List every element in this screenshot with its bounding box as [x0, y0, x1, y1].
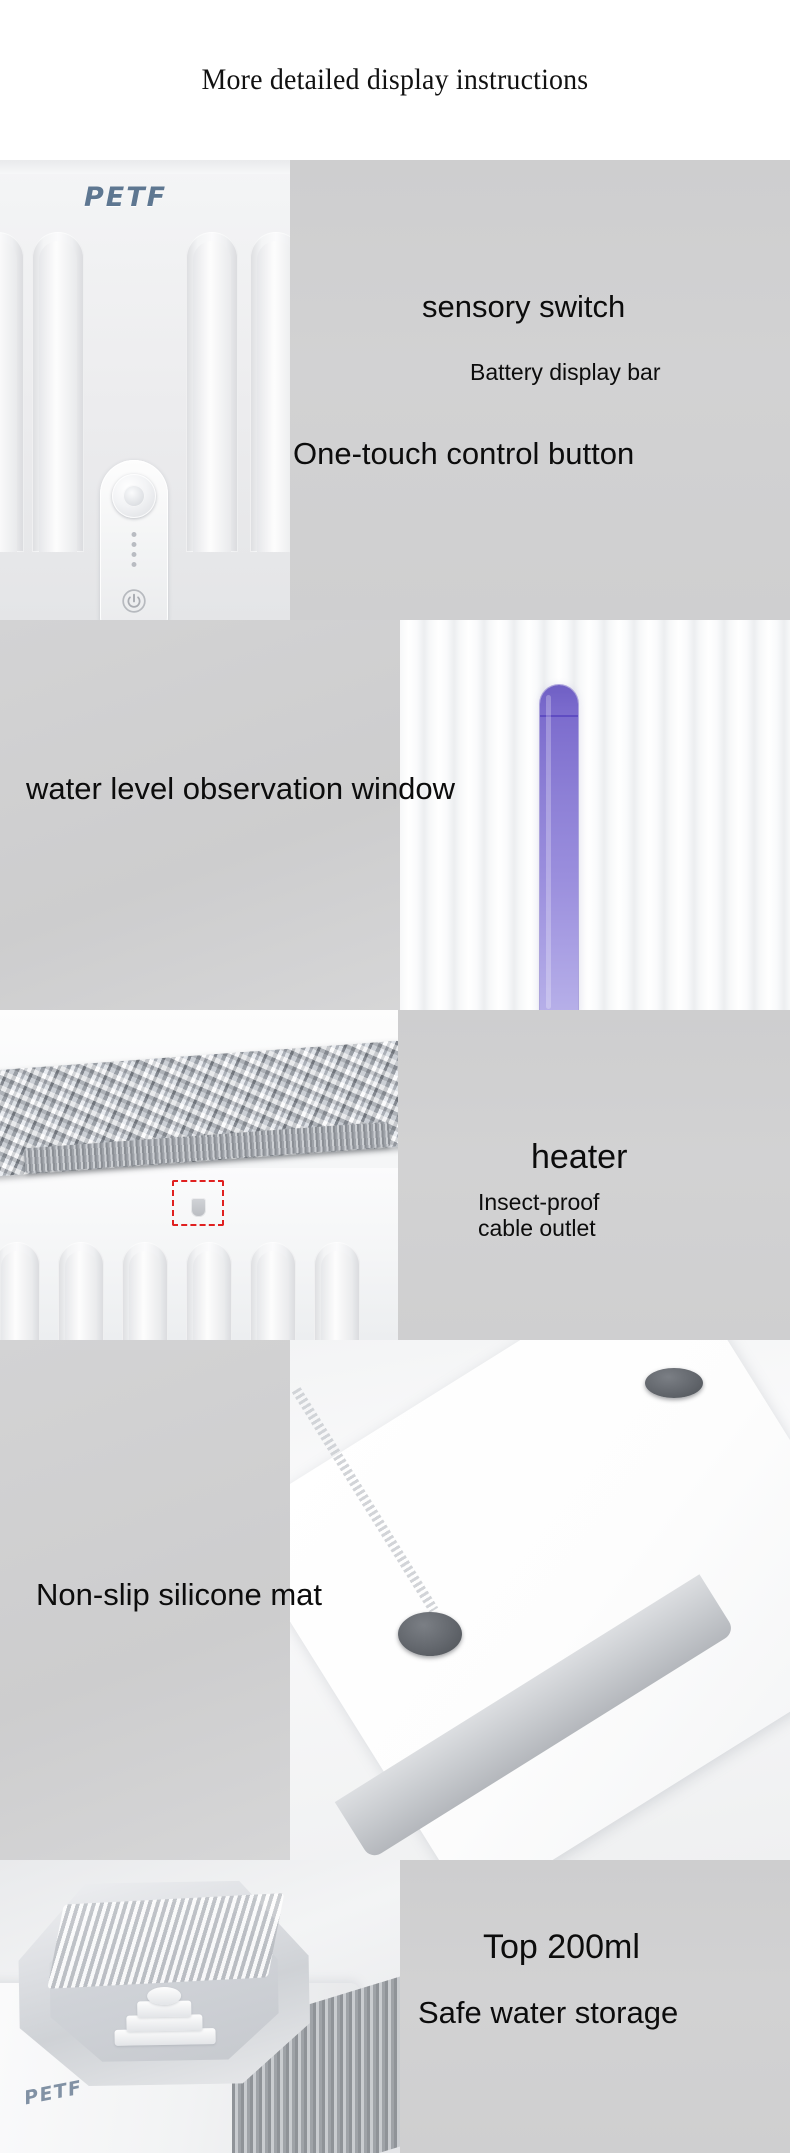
label-non-slip-silicone-mat: Non-slip silicone mat: [36, 1578, 322, 1613]
water-nozzle: [114, 1982, 216, 2051]
power-icon[interactable]: [121, 588, 147, 614]
silicone-foot: [645, 1368, 703, 1398]
label-safe-water-storage: Safe water storage: [418, 1996, 678, 2031]
body-rib: [58, 1242, 104, 1340]
callout-highlight-box: [172, 1180, 224, 1226]
label-heater: heater: [531, 1138, 627, 1176]
heater-scene: [0, 1010, 398, 1340]
heater-plate-photo: [0, 1010, 398, 1340]
battery-dot: [132, 552, 137, 557]
fountain-front-body: PETF: [0, 160, 290, 620]
body-rib: [250, 232, 290, 552]
sensor-knob[interactable]: [112, 474, 156, 518]
control-strip: [100, 460, 168, 620]
label-top-200ml: Top 200ml: [483, 1928, 640, 1966]
body-rib: [0, 232, 24, 552]
water-level-tube: [540, 685, 578, 1010]
body-rib: [186, 232, 238, 552]
battery-dot: [132, 532, 137, 537]
section-heater: heater Insect-proof cable outlet: [0, 1010, 790, 1340]
label-insect-proof-cable-outlet: Insect-proof cable outlet: [478, 1190, 658, 1242]
body-rib: [32, 232, 84, 552]
page-title: More detailed display instructions: [202, 63, 589, 97]
label-sensory-switch: sensory switch: [422, 290, 625, 325]
brand-logo: PETF: [84, 182, 167, 213]
base-underside: [290, 1340, 790, 1860]
product-detail-page: More detailed display instructions PETF: [0, 0, 790, 2153]
body-top-edge: [0, 160, 290, 174]
silicone-feet-photo: [290, 1340, 790, 1860]
body-rib: [0, 1242, 40, 1340]
label-water-level-observation-window: water level observation window: [26, 772, 455, 807]
water-level-window-photo: [400, 620, 790, 1010]
fluted-body-texture: [400, 620, 790, 1010]
battery-dot: [132, 562, 137, 567]
section-sensory-switch: PETF: [0, 160, 790, 620]
nozzle-tier: [147, 1987, 182, 2006]
section-water-level-window: water level observation window: [0, 620, 790, 1010]
top-reservoir-photo: PETF: [0, 1860, 400, 2153]
label-battery-display-bar: Battery display bar: [470, 360, 660, 386]
body-rib: [186, 1242, 232, 1340]
section-top-reservoir: PETF Top 200ml Safe water storage: [0, 1860, 790, 2153]
body-rib: [250, 1242, 296, 1340]
water-tank-lid: [14, 1875, 314, 2091]
reservoir-scene: PETF: [0, 1860, 400, 2153]
fountain-front-photo: PETF: [0, 160, 290, 620]
battery-display-bar: [132, 532, 137, 567]
battery-dot: [132, 542, 137, 547]
silicone-foot: [398, 1612, 462, 1656]
section-silicone-mat: Non-slip silicone mat: [0, 1340, 790, 1860]
body-rib: [314, 1242, 360, 1340]
body-rib: [122, 1242, 168, 1340]
page-header: More detailed display instructions: [0, 0, 790, 160]
tank-fins: [48, 1893, 285, 1989]
labels-panel: [290, 160, 790, 620]
labels-panel: [0, 620, 400, 1010]
label-one-touch-control-button: One-touch control button: [293, 437, 634, 472]
